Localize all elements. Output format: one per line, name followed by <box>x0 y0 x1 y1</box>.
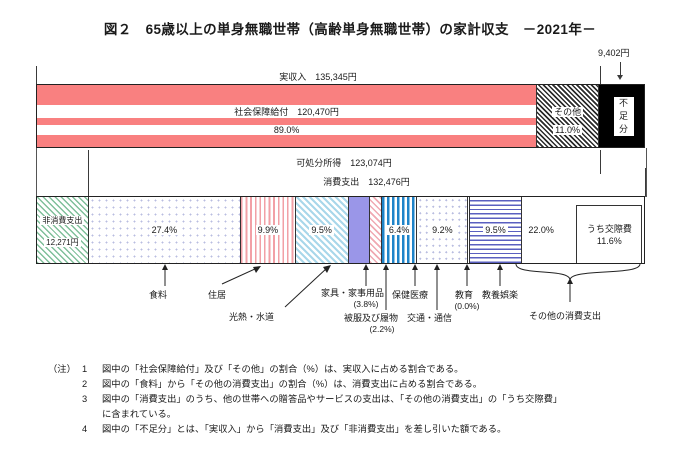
expenditure-segment-medical: 6.4% <box>382 197 418 263</box>
callout-education-percent: (0.0%) <box>447 302 487 312</box>
expenditure-segment-housing: 9.9% <box>241 197 296 263</box>
page-title: 図２ 65歳以上の単身無職世帯（高齢単身無職世帯）の家計収支 －2021年－ <box>0 18 700 38</box>
culture-percent: 9.5% <box>483 225 508 235</box>
callout-housing: 住居 <box>208 290 226 300</box>
expenditure-segment-culture: 9.5% <box>470 197 523 263</box>
disposable-end-tick <box>600 150 601 174</box>
consumption-expenditure-measure: 消費支出 132,476円 <box>88 176 645 190</box>
expenditure-segment-other: 22.0% うち交際費 11.6% <box>522 197 644 263</box>
income-left-tick <box>36 66 37 84</box>
transport-percent: 9.2% <box>430 225 455 235</box>
consumption-expenditure-label: 消費支出 132,476円 <box>88 175 645 188</box>
expenditure-segment-clothing <box>370 197 382 263</box>
other-income-label: その他 <box>552 107 583 117</box>
note-text: 図中の「社会保障給付」及び「その他」の割合（%）は、実収入に占める割合である。 <box>102 362 688 377</box>
notes-tag: （注） <box>48 362 82 377</box>
deficit-leader-line <box>620 62 621 76</box>
social-expense-label: うち交際費 <box>577 222 641 235</box>
non-consumption-label: 非消費支出 <box>40 216 84 225</box>
callout-utilities: 光熱・水道 <box>229 312 274 322</box>
deficit-arrow-head <box>617 75 623 80</box>
other-income-percent: 11.0% <box>553 125 582 135</box>
callout-medical: 保健医療 <box>392 290 428 300</box>
callout-food: 食料 <box>149 290 167 300</box>
notes-block: （注） 1 図中の「社会保障給付」及び「その他」の割合（%）は、実収入に占める割… <box>48 362 688 437</box>
callout-clothing-percent: (2.2%) <box>344 325 420 335</box>
income-bar: 社会保障給付 120,470円 89.0% その他 11.0% 不足分 <box>36 84 645 148</box>
utilities-percent: 9.5% <box>309 225 334 235</box>
note-row: 2 図中の「食料」から「その他の消費支出」の割合（%）は、消費支出に占める割合で… <box>48 377 688 392</box>
actual-income-measure: 実収入 135,345円 <box>36 70 600 84</box>
social-expense-percent: 11.6% <box>577 236 641 246</box>
callout-other-expenditure: その他の消費支出 <box>529 311 601 321</box>
expenditure-segment-transport: 9.2% <box>417 197 468 263</box>
note-row: 3 図中の「消費支出」のうち、他の世帯への贈答品やサービスの支出は、「その他の消… <box>48 392 688 407</box>
social-security-value: 社会保障給付 120,470円 <box>37 105 536 118</box>
callout-transport: 交通・通信 <box>407 313 452 323</box>
deficit-amount-label: 9,402円 <box>598 48 630 58</box>
disposable-income-label: 可処分所得 123,074円 <box>88 156 600 169</box>
callout-furniture-percent: (3.8%) <box>321 300 411 310</box>
note-text: 図中の「食料」から「その他の消費支出」の割合（%）は、消費支出に占める割合である… <box>102 377 688 392</box>
callout-furniture: 家具・家事用品 <box>321 288 384 298</box>
expenditure-start-tick <box>88 150 89 196</box>
callout-education: 教育 <box>455 290 473 300</box>
consumption-end-tick <box>645 168 646 196</box>
note-number: 1 <box>82 362 102 377</box>
deficit-label: 不足分 <box>614 97 634 136</box>
expenditure-segment-non-consumption: 非消費支出 12,271円 <box>37 197 89 263</box>
income-right-tick <box>600 66 601 84</box>
non-consumption-value: 12,271円 <box>44 238 80 247</box>
expenditure-bar: 非消費支出 12,271円 27.4% 9.9% 9.5% 6.4% 9.2% <box>36 196 645 264</box>
callout-clothing: 被服及び履物 <box>344 313 398 323</box>
income-segment-other: その他 11.0% <box>537 85 599 147</box>
expenditure-segment-furniture <box>349 197 370 263</box>
expenditure-segment-utilities: 9.5% <box>296 197 349 263</box>
income-segment-deficit: 不足分 <box>599 85 644 147</box>
note-number: 3 <box>82 392 102 407</box>
note-continuation: に含まれている。 <box>102 407 688 422</box>
housing-percent: 9.9% <box>256 225 281 235</box>
disposable-income-measure: 可処分所得 123,074円 <box>88 157 600 171</box>
income-segment-social-security: 社会保障給付 120,470円 89.0% <box>37 85 537 147</box>
expenditure-segment-food: 27.4% <box>89 197 241 263</box>
note-text: 図中の「消費支出」のうち、他の世帯への贈答品やサービスの支出は、「その他の消費支… <box>102 392 688 407</box>
note-row: 4 図中の「不足分」とは、「実収入」から「消費支出」及び「非消費支出」を差し引い… <box>48 422 688 437</box>
note-row: （注） 1 図中の「社会保障給付」及び「その他」の割合（%）は、実収入に占める割… <box>48 362 688 377</box>
note-number: 4 <box>82 422 102 437</box>
note-text: 図中の「不足分」とは、「実収入」から「消費支出」及び「非消費支出」を差し引いた額… <box>102 422 688 437</box>
social-security-percent: 89.0% <box>37 125 536 135</box>
food-percent: 27.4% <box>150 225 180 235</box>
callout-culture: 教養娯楽 <box>482 290 518 300</box>
actual-income-label: 実収入 135,345円 <box>36 70 600 83</box>
social-expense-box: うち交際費 11.6% <box>576 205 642 263</box>
note-number: 2 <box>82 377 102 392</box>
other-expenditure-percent: 22.0% <box>528 225 554 235</box>
chart-page: 図２ 65歳以上の単身無職世帯（高齢単身無職世帯）の家計収支 －2021年－ 9… <box>0 0 700 466</box>
medical-percent: 6.4% <box>387 225 412 235</box>
